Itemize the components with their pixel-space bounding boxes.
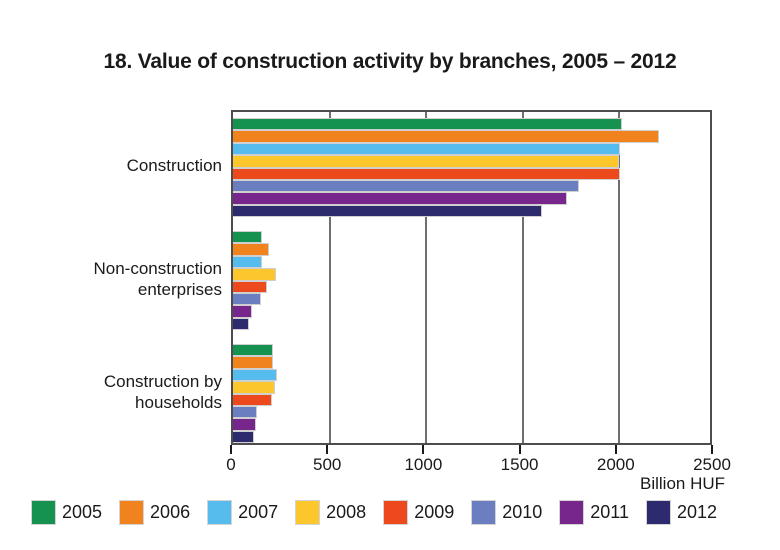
bar-2006-2[interactable] — [233, 356, 273, 368]
legend-label-2007: 2007 — [238, 502, 278, 523]
page-title: 18. Value of construction activity by br… — [0, 50, 780, 74]
bar-2008-1[interactable] — [233, 268, 276, 280]
bar-row — [233, 356, 710, 368]
bar-2012-1[interactable] — [233, 318, 249, 330]
x-tick-label-2000: 2000 — [597, 455, 635, 475]
bar-2011-1[interactable] — [233, 305, 252, 317]
legend-item-2012[interactable]: 2012 — [646, 500, 717, 525]
bar-2005-1[interactable] — [233, 231, 262, 243]
bar-row — [233, 318, 710, 330]
x-tick-label-500: 500 — [313, 455, 341, 475]
bar-2005-0[interactable] — [233, 118, 622, 130]
bar-row — [233, 168, 710, 180]
y-axis-label-line: households — [7, 392, 222, 413]
legend-swatch-2008 — [295, 500, 320, 525]
legend-label-2008: 2008 — [326, 502, 366, 523]
x-tick-1500 — [519, 445, 521, 454]
bar-2010-1[interactable] — [233, 293, 261, 305]
bar-row — [233, 381, 710, 393]
bar-group-0 — [233, 118, 710, 217]
plot-area — [231, 110, 712, 445]
bar-row — [233, 431, 710, 443]
y-axis-label-line: Non-construction — [7, 258, 222, 279]
bar-2009-2[interactable] — [233, 394, 272, 406]
bar-2007-1[interactable] — [233, 256, 262, 268]
bar-row — [233, 293, 710, 305]
y-axis-label-line: enterprises — [7, 279, 222, 300]
bar-group-1 — [233, 231, 710, 330]
bar-2009-1[interactable] — [233, 281, 267, 293]
x-tick-2500 — [711, 445, 713, 454]
legend-label-2010: 2010 — [502, 502, 542, 523]
y-axis-label-2: Construction byhouseholds — [7, 371, 222, 413]
bar-row — [233, 268, 710, 280]
x-axis-unit-label: Billion HUF — [640, 474, 725, 494]
bar-row — [233, 281, 710, 293]
bar-2009-0[interactable] — [233, 168, 620, 180]
y-axis-label-1: Non-constructionenterprises — [7, 258, 222, 300]
legend-swatch-2006 — [119, 500, 144, 525]
bar-row — [233, 369, 710, 381]
bar-row — [233, 305, 710, 317]
bar-2010-0[interactable] — [233, 180, 579, 192]
bar-2005-2[interactable] — [233, 344, 273, 356]
bar-row — [233, 394, 710, 406]
x-tick-0 — [230, 445, 232, 454]
bar-row — [233, 406, 710, 418]
bar-row — [233, 180, 710, 192]
legend-item-2005[interactable]: 2005 — [31, 500, 102, 525]
bar-row — [233, 231, 710, 243]
legend-swatch-2007 — [207, 500, 232, 525]
x-tick-label-0: 0 — [226, 455, 235, 475]
legend-item-2011[interactable]: 2011 — [559, 500, 629, 525]
x-tick-1000 — [422, 445, 424, 454]
bar-row — [233, 143, 710, 155]
x-tick-2000 — [615, 445, 617, 454]
legend-item-2010[interactable]: 2010 — [471, 500, 542, 525]
y-axis-category-labels: ConstructionNon-constructionenterprisesC… — [0, 110, 222, 445]
bar-row — [233, 418, 710, 430]
x-tick-label-1000: 1000 — [404, 455, 442, 475]
bar-row — [233, 118, 710, 130]
y-axis-label-line: Construction — [7, 155, 222, 176]
bar-row — [233, 155, 710, 167]
legend-label-2005: 2005 — [62, 502, 102, 523]
x-tick-500 — [326, 445, 328, 454]
legend-swatch-2009 — [383, 500, 408, 525]
legend-item-2008[interactable]: 2008 — [295, 500, 366, 525]
bar-row — [233, 256, 710, 268]
legend-item-2009[interactable]: 2009 — [383, 500, 454, 525]
bar-2012-0[interactable] — [233, 205, 542, 217]
y-axis-label-0: Construction — [7, 155, 222, 176]
bar-row — [233, 130, 710, 142]
bar-group-2 — [233, 344, 710, 443]
legend-item-2006[interactable]: 2006 — [119, 500, 190, 525]
bar-2008-0[interactable] — [233, 155, 619, 167]
bar-2010-2[interactable] — [233, 406, 257, 418]
legend-swatch-2012 — [646, 500, 671, 525]
bar-2008-2[interactable] — [233, 381, 275, 393]
bar-2007-0[interactable] — [233, 143, 620, 155]
legend-label-2006: 2006 — [150, 502, 190, 523]
bar-row — [233, 344, 710, 356]
legend-item-2007[interactable]: 2007 — [207, 500, 278, 525]
bar-row — [233, 192, 710, 204]
bar-2011-0[interactable] — [233, 192, 567, 204]
bar-2006-1[interactable] — [233, 243, 269, 255]
x-tick-label-2500: 2500 — [693, 455, 731, 475]
legend-swatch-2005 — [31, 500, 56, 525]
legend-swatch-2011 — [559, 500, 584, 525]
legend-label-2011: 2011 — [590, 502, 629, 523]
y-axis-label-line: Construction by — [7, 371, 222, 392]
bar-row — [233, 205, 710, 217]
legend-label-2009: 2009 — [414, 502, 454, 523]
bar-row — [233, 243, 710, 255]
legend-label-2012: 2012 — [677, 502, 717, 523]
bar-2011-2[interactable] — [233, 418, 256, 430]
bar-2012-2[interactable] — [233, 431, 254, 443]
legend: 20052006200720082009201020112012 — [31, 500, 734, 525]
x-tick-label-1500: 1500 — [501, 455, 539, 475]
bar-2007-2[interactable] — [233, 369, 277, 381]
legend-swatch-2010 — [471, 500, 496, 525]
bar-2006-0[interactable] — [233, 130, 659, 142]
